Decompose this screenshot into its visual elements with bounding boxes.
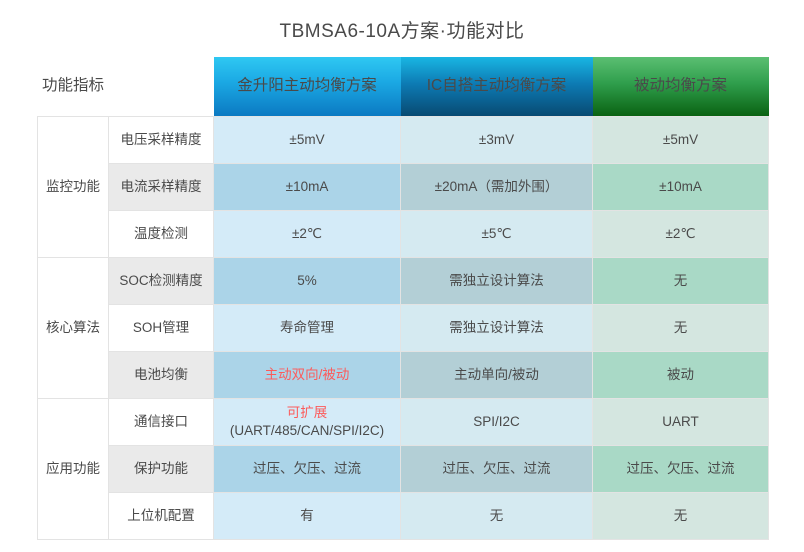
cell-solution-1: ±2℃ xyxy=(214,211,401,258)
metric-label: 上位机配置 xyxy=(109,493,214,540)
cell-solution-1: ±10mA xyxy=(214,164,401,211)
cell-solution-1: 5% xyxy=(214,258,401,305)
metric-label: 温度检测 xyxy=(109,211,214,258)
metric-label: 电压采样精度 xyxy=(109,117,214,164)
cell-solution-1: 寿命管理 xyxy=(214,305,401,352)
cell-solution-2: 过压、欠压、过流 xyxy=(401,446,593,493)
cell-solution-3: ±5mV xyxy=(593,117,769,164)
cell-solution-1: 主动双向/被动 xyxy=(214,352,401,399)
metric-label: 电流采样精度 xyxy=(109,164,214,211)
table-row: 电池均衡 主动双向/被动 主动单向/被动 被动 xyxy=(38,352,769,399)
cell-solution-1: 有 xyxy=(214,493,401,540)
header-metric-spacer xyxy=(109,57,214,117)
cell-solution-2: 需独立设计算法 xyxy=(401,258,593,305)
table-row: 核心算法 SOC检测精度 5% 需独立设计算法 无 xyxy=(38,258,769,305)
cell-solution-3: UART xyxy=(593,399,769,446)
cell-solution-3: ±10mA xyxy=(593,164,769,211)
metric-label: SOH管理 xyxy=(109,305,214,352)
cell-solution-3: 无 xyxy=(593,258,769,305)
header-metric-label: 功能指标 xyxy=(38,57,109,117)
cell-solution-2: ±20mA（需加外围） xyxy=(401,164,593,211)
cell-solution-1: 可扩展 (UART/485/CAN/SPI/I2C) xyxy=(214,399,401,446)
table-row: 温度检测 ±2℃ ±5℃ ±2℃ xyxy=(38,211,769,258)
metric-label: 通信接口 xyxy=(109,399,214,446)
comparison-table-container: 功能指标 金升阳主动均衡方案 IC自搭主动均衡方案 被动均衡方案 监控功能 电压… xyxy=(37,57,768,540)
group-label-monitoring: 监控功能 xyxy=(38,117,109,258)
table-row: SOH管理 寿命管理 需独立设计算法 无 xyxy=(38,305,769,352)
comparison-table: 功能指标 金升阳主动均衡方案 IC自搭主动均衡方案 被动均衡方案 监控功能 电压… xyxy=(37,57,769,540)
cell-solution-3: 无 xyxy=(593,493,769,540)
highlighted-value: 可扩展 xyxy=(218,404,396,422)
cell-solution-2: 需独立设计算法 xyxy=(401,305,593,352)
table-row: 保护功能 过压、欠压、过流 过压、欠压、过流 过压、欠压、过流 xyxy=(38,446,769,493)
table-body: 监控功能 电压采样精度 ±5mV ±3mV ±5mV 电流采样精度 ±10mA … xyxy=(38,117,769,540)
table-row: 电流采样精度 ±10mA ±20mA（需加外围） ±10mA xyxy=(38,164,769,211)
header-solution-1: 金升阳主动均衡方案 xyxy=(214,57,401,117)
cell-solution-3: 过压、欠压、过流 xyxy=(593,446,769,493)
cell-solution-3: 被动 xyxy=(593,352,769,399)
metric-label: 电池均衡 xyxy=(109,352,214,399)
table-header-row: 功能指标 金升阳主动均衡方案 IC自搭主动均衡方案 被动均衡方案 xyxy=(38,57,769,117)
table-row: 应用功能 通信接口 可扩展 (UART/485/CAN/SPI/I2C) SPI… xyxy=(38,399,769,446)
table-row: 监控功能 电压采样精度 ±5mV ±3mV ±5mV xyxy=(38,117,769,164)
cell-solution-2: ±5℃ xyxy=(401,211,593,258)
interface-list: (UART/485/CAN/SPI/I2C) xyxy=(218,422,396,440)
comparison-page: TBMSA6-10A方案·功能对比 功能指标 金升阳主动均衡方案 IC自搭主动均… xyxy=(0,0,804,552)
cell-solution-3: ±2℃ xyxy=(593,211,769,258)
cell-solution-2: ±3mV xyxy=(401,117,593,164)
cell-solution-1: ±5mV xyxy=(214,117,401,164)
cell-solution-3: 无 xyxy=(593,305,769,352)
header-solution-3: 被动均衡方案 xyxy=(593,57,769,117)
page-title: TBMSA6-10A方案·功能对比 xyxy=(0,16,804,43)
group-label-core-algorithm: 核心算法 xyxy=(38,258,109,399)
header-solution-2: IC自搭主动均衡方案 xyxy=(401,57,593,117)
highlighted-value: 主动双向/被动 xyxy=(218,366,396,384)
cell-solution-2: 主动单向/被动 xyxy=(401,352,593,399)
group-label-application: 应用功能 xyxy=(38,399,109,540)
cell-solution-2: SPI/I2C xyxy=(401,399,593,446)
cell-solution-2: 无 xyxy=(401,493,593,540)
table-row: 上位机配置 有 无 无 xyxy=(38,493,769,540)
metric-label: SOC检测精度 xyxy=(109,258,214,305)
cell-solution-1: 过压、欠压、过流 xyxy=(214,446,401,493)
metric-label: 保护功能 xyxy=(109,446,214,493)
